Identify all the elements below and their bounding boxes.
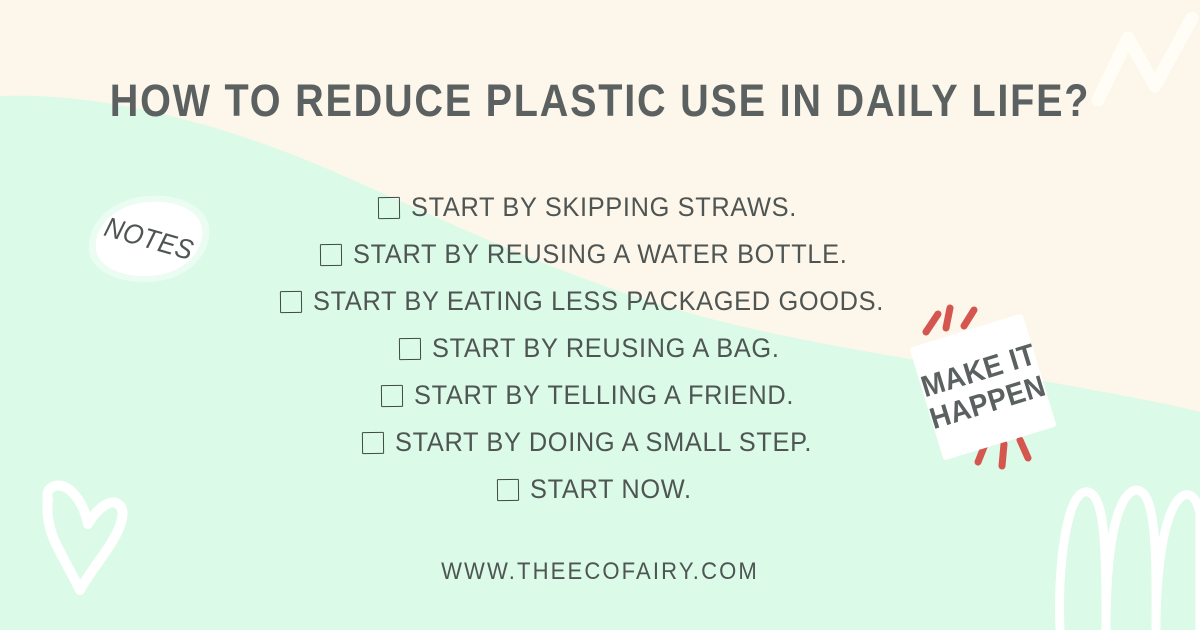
checkbox-icon[interactable] [378,196,400,218]
checklist-item-label: START BY REUSING A BAG. [432,335,780,362]
checklist-item-label: START BY DOING A SMALL STEP. [395,429,812,456]
checklist-item[interactable]: START NOW. [497,466,702,513]
page-title: HOW TO REDUCE PLASTIC USE IN DAILY LIFE? [72,78,1128,123]
checkbox-icon[interactable] [361,431,383,453]
checklist-item[interactable]: START BY EATING LESS PACKAGED GOODS. [280,278,920,325]
checklist-item[interactable]: START BY REUSING A WATER BOTTLE. [320,231,879,278]
checklist-item-label: START BY REUSING A WATER BOTTLE. [353,241,847,268]
checklist-item[interactable]: START BY DOING A SMALL STEP. [362,419,839,466]
checkbox-icon[interactable] [280,290,302,312]
checklist-item-label: START BY TELLING A FRIEND. [414,382,794,409]
checklist-item-label: START BY SKIPPING STRAWS. [411,194,797,221]
checklist-item-label: START NOW. [530,476,692,503]
checklist-item[interactable]: START BY REUSING A BAG. [399,325,802,372]
checklist-item-label: START BY EATING LESS PACKAGED GOODS. [313,288,884,315]
make-it-happen-sticker: MAKE IT HAPPEN [900,300,1068,476]
checklist-item[interactable]: START BY SKIPPING STRAWS. [378,184,822,231]
spark-burst-icon [926,308,974,332]
poster-canvas: HOW TO REDUCE PLASTIC USE IN DAILY LIFE?… [0,0,1200,630]
checkbox-icon[interactable] [381,384,403,406]
footer-website-url[interactable]: WWW.THEECOFAIRY.COM [48,560,1152,584]
checkbox-icon[interactable] [497,478,519,500]
checklist-item[interactable]: START BY TELLING A FRIEND. [381,372,818,419]
checkbox-icon[interactable] [399,337,421,359]
checkbox-icon[interactable] [320,243,342,265]
